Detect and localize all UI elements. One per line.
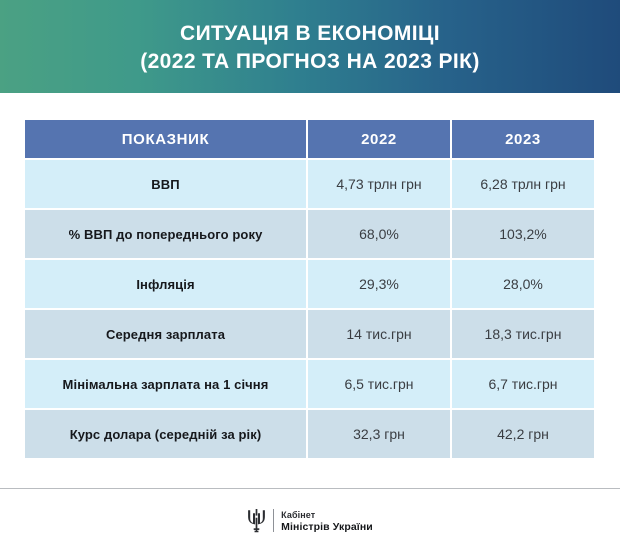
row-value-2023: 42,2 грн: [452, 410, 594, 458]
column-header-indicator: ПОКАЗНИК: [25, 120, 306, 158]
row-value-2022: 14 тис.грн: [308, 310, 450, 358]
column-header-2022: 2022: [308, 120, 450, 158]
logo-text: Кабінет Міністрів України: [281, 509, 373, 533]
row-value-2022: 68,0%: [308, 210, 450, 258]
row-label: Інфляція: [25, 260, 306, 308]
logo-divider: [273, 509, 274, 532]
table-row: Курс долара (середній за рік) 32,3 грн 4…: [25, 410, 594, 458]
row-value-2022: 4,73 трлн грн: [308, 160, 450, 208]
table-row: % ВВП до попереднього року 68,0% 103,2%: [25, 210, 594, 258]
row-value-2023: 6,28 трлн грн: [452, 160, 594, 208]
logo-line-ministers: Міністрів України: [281, 521, 373, 533]
economy-indicators-table: ПОКАЗНИК 2022 2023 ВВП 4,73 трлн грн 6,2…: [23, 118, 596, 460]
row-value-2022: 29,3%: [308, 260, 450, 308]
row-label: Середня зарплата: [25, 310, 306, 358]
table-row: Інфляція 29,3% 28,0%: [25, 260, 594, 308]
row-value-2022: 6,5 тис.грн: [308, 360, 450, 408]
header-banner: СИТУАЦІЯ В ЕКОНОМІЦІ (2022 ТА ПРОГНОЗ НА…: [0, 0, 620, 93]
row-value-2023: 103,2%: [452, 210, 594, 258]
row-label: Мінімальна зарплата на 1 січня: [25, 360, 306, 408]
cabinet-of-ministers-logo: Кабінет Міністрів України: [0, 498, 620, 543]
page-title-line-1: СИТУАЦІЯ В ЕКОНОМІЦІ: [180, 20, 440, 48]
table-row: ВВП 4,73 трлн грн 6,28 трлн грн: [25, 160, 594, 208]
footer-divider: [0, 488, 620, 489]
row-value-2023: 18,3 тис.грн: [452, 310, 594, 358]
page-title-line-2: (2022 ТА ПРОГНОЗ НА 2023 РІК): [140, 48, 480, 76]
row-value-2022: 32,3 грн: [308, 410, 450, 458]
row-label: ВВП: [25, 160, 306, 208]
row-label: % ВВП до попереднього року: [25, 210, 306, 258]
table-row: Середня зарплата 14 тис.грн 18,3 тис.грн: [25, 310, 594, 358]
table-header-row: ПОКАЗНИК 2022 2023: [25, 120, 594, 158]
ukraine-trident-icon: [247, 509, 266, 533]
column-header-2023: 2023: [452, 120, 594, 158]
table-row: Мінімальна зарплата на 1 січня 6,5 тис.г…: [25, 360, 594, 408]
row-value-2023: 28,0%: [452, 260, 594, 308]
logo-line-cabinet: Кабінет: [281, 509, 373, 521]
row-value-2023: 6,7 тис.грн: [452, 360, 594, 408]
row-label: Курс долара (середній за рік): [25, 410, 306, 458]
